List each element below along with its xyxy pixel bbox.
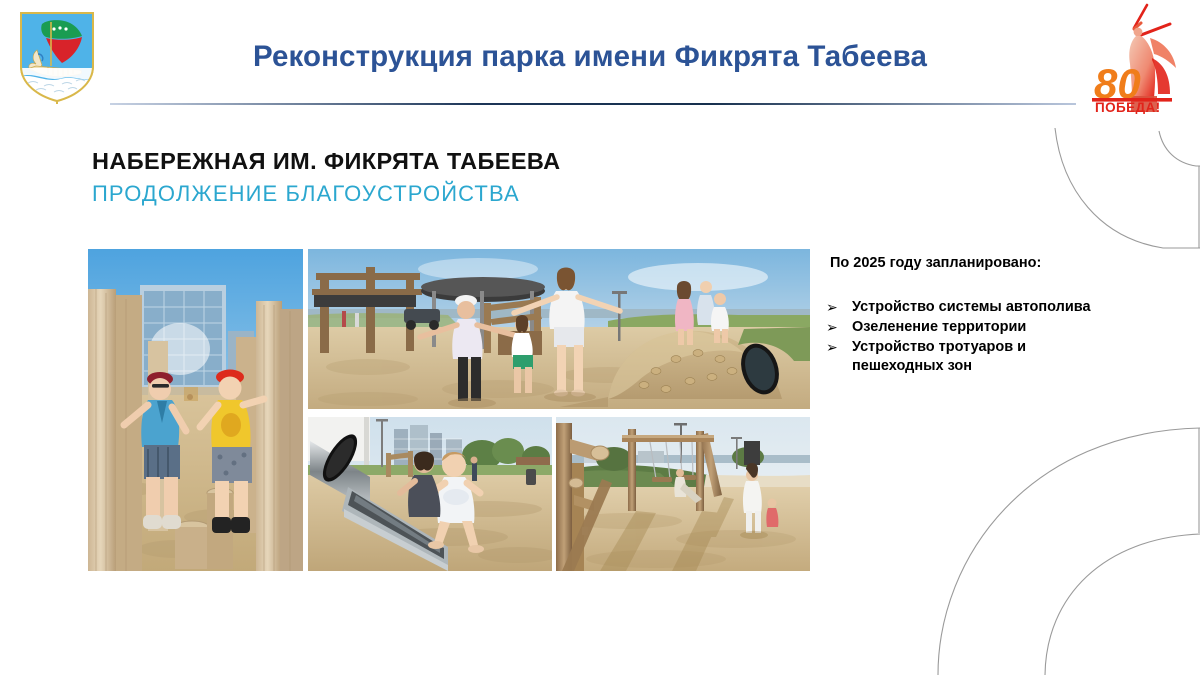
list-item-label: Устройство системы автополива: [852, 298, 1186, 317]
plan-list: ➢ Устройство системы автополива ➢ Озелен…: [826, 298, 1186, 377]
section-title: НАБЕРЕЖНАЯ ИМ. ФИКРЯТА ТАБЕЕВА: [92, 148, 560, 175]
list-item: ➢ Устройство тротуаров и пешеходных зон: [826, 338, 1186, 376]
photo-kids-on-logs: [88, 249, 303, 571]
list-item: ➢ Устройство системы автополива: [826, 298, 1186, 317]
header-divider: [110, 103, 1076, 105]
photo-wooden-swings: [556, 417, 810, 571]
victory-80-logo: 80 ПОБЕДА!: [1084, 2, 1192, 114]
list-item-label: Устройство тротуаров и пешеходных зон: [852, 338, 1186, 376]
arrow-bullet-icon: ➢: [826, 318, 852, 337]
photo-children-sand-mound: [308, 249, 810, 409]
list-item: ➢ Озеленение территории: [826, 318, 1186, 337]
photo-child-tube-slide: [308, 417, 552, 571]
plan-heading: По 2025 году запланировано:: [830, 255, 1041, 271]
page-title: Реконструкция парка имени Фикрята Табеев…: [150, 40, 1030, 74]
coat-of-arms-icon: [18, 10, 96, 104]
slide-root: Реконструкция парка имени Фикрята Табеев…: [0, 0, 1200, 675]
svg-text:ПОБЕДА!: ПОБЕДА!: [1095, 100, 1161, 114]
arrow-bullet-icon: ➢: [826, 338, 852, 357]
arrow-bullet-icon: ➢: [826, 298, 852, 317]
list-item-label: Озеленение территории: [852, 318, 1186, 337]
section-subtitle: ПРОДОЛЖЕНИЕ БЛАГОУСТРОЙСТВА: [92, 181, 520, 207]
